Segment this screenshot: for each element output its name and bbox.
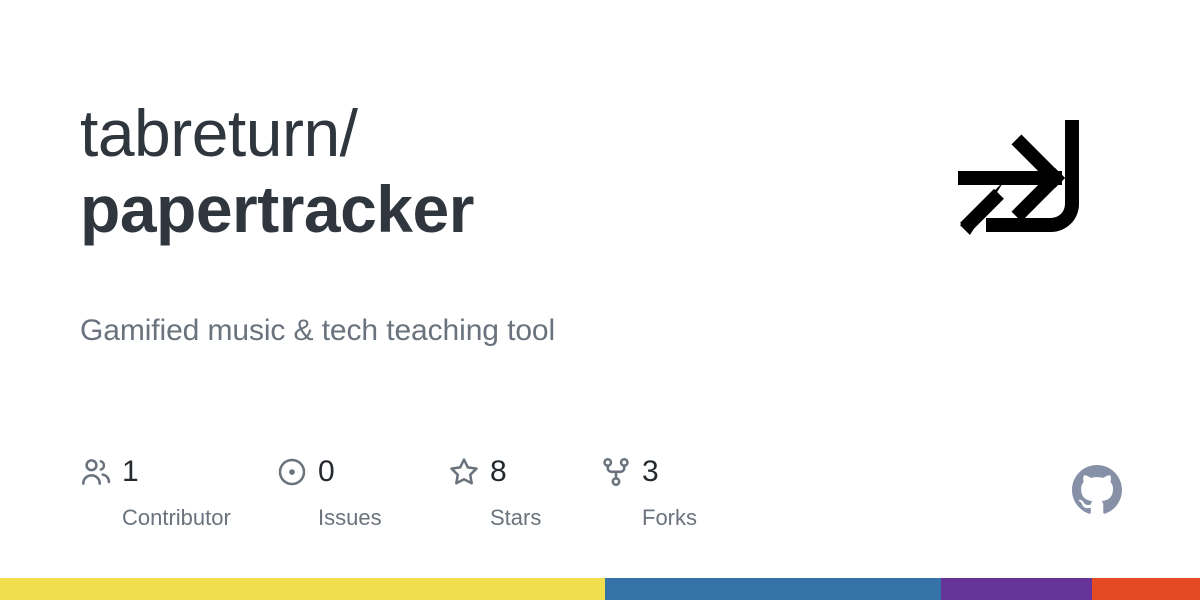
language-segment-orange <box>1092 578 1200 600</box>
github-octocat-icon <box>1072 465 1122 515</box>
stat-issues-label: Issues <box>318 504 382 532</box>
stat-contributors-value: 1 <box>122 456 139 488</box>
stat-issues-value: 0 <box>318 456 335 488</box>
stat-forks-label: Forks <box>642 504 697 532</box>
repository-name: papertracker <box>80 170 920 248</box>
stat-contributors-label: Contributor <box>122 504 231 532</box>
stat-stars-top: 8 <box>448 452 507 492</box>
stat-forks-top: 3 <box>600 452 659 492</box>
stat-stars-label: Stars <box>490 504 541 532</box>
people-icon <box>80 456 112 488</box>
stat-stars: 8 Stars <box>448 452 600 532</box>
repository-logo <box>952 112 1088 248</box>
stat-forks-value: 3 <box>642 456 659 488</box>
stat-contributors: 1 Contributor <box>80 452 276 532</box>
repo-forked-icon <box>600 456 632 488</box>
stat-forks: 3 Forks <box>600 452 750 532</box>
repository-stats: 1 Contributor 0 Issues <box>80 452 750 532</box>
repository-owner: tabreturn/ <box>80 96 920 170</box>
language-segment-blue <box>605 578 941 600</box>
github-mark <box>1072 465 1122 515</box>
stat-issues: 0 Issues <box>276 452 448 532</box>
stat-stars-value: 8 <box>490 456 507 488</box>
stat-contributors-top: 1 <box>80 452 139 492</box>
language-bar <box>0 578 1200 600</box>
language-segment-yellow <box>0 578 605 600</box>
issue-opened-icon <box>276 456 308 488</box>
stat-issues-top: 0 <box>276 452 335 492</box>
repository-heading: tabreturn/ papertracker <box>80 96 920 248</box>
repository-description: Gamified music & tech teaching tool <box>80 310 900 352</box>
repository-social-card: tabreturn/ papertracker Gamified music &… <box>0 0 1200 600</box>
language-segment-purple <box>941 578 1092 600</box>
tab-return-arrows-icon <box>952 112 1088 248</box>
star-icon <box>448 456 480 488</box>
